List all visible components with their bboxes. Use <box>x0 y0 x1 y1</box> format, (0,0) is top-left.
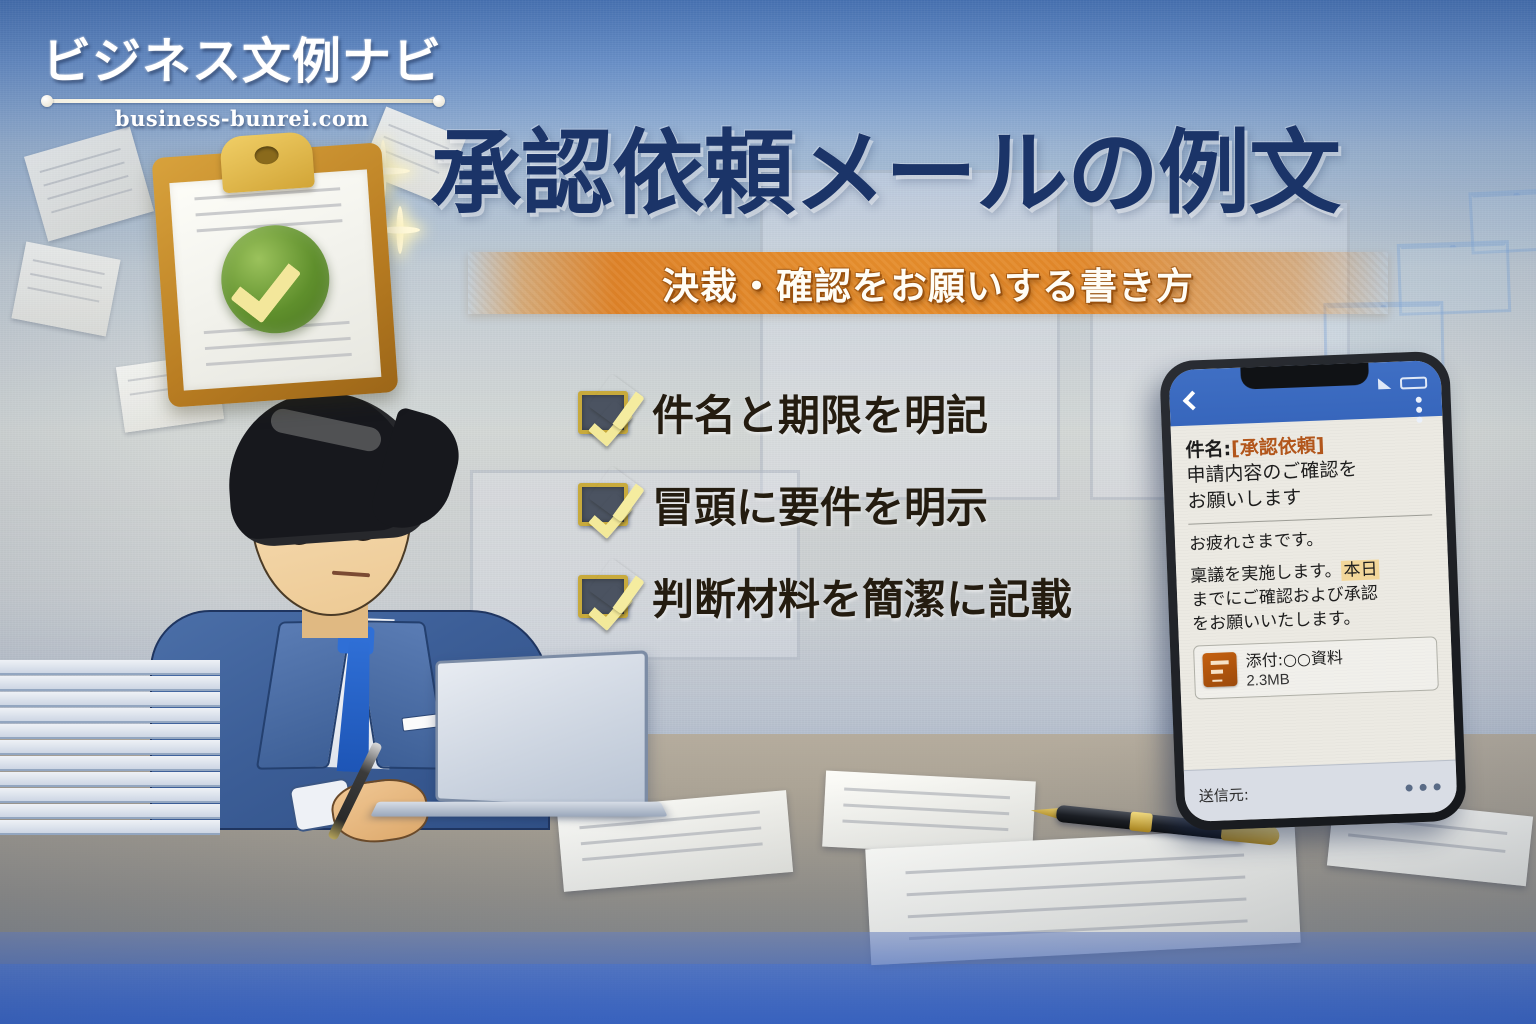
poster-canvas: 件名:[承認依頼] 申請内容のご確認を お願いします お疲れさまです。 稟議を実… <box>0 0 1536 1024</box>
kebab-menu-icon[interactable] <box>1416 397 1423 427</box>
more-dots-icon[interactable] <box>1405 783 1440 791</box>
pdf-file-icon <box>1202 652 1237 687</box>
phone-footer-bar: 送信元: <box>1184 760 1458 822</box>
sender-label: 送信元: <box>1198 784 1249 807</box>
checklist-item: 判断材料を簡潔に記載 <box>578 566 1072 627</box>
mail-subject-label: 件名: <box>1185 438 1231 462</box>
subtitle-banner: 決裁・確認をお願いする書き方 <box>468 252 1388 314</box>
checkbox-checked-icon <box>578 483 628 526</box>
checklist-item-label: 冒頭に要件を明示 <box>652 474 988 535</box>
clipboard-clamp <box>219 131 315 193</box>
clipboard-check-icon <box>152 142 399 407</box>
site-logo[interactable]: ビジネス文例ナビ business-bunrei.com <box>42 22 442 131</box>
logo-domain-text: business-bunrei.com <box>42 106 442 131</box>
checkbox-checked-icon <box>578 391 628 434</box>
logo-brand-text: ビジネス文例ナビ <box>42 22 442 93</box>
checklist-item: 冒頭に要件を明示 <box>578 474 1072 535</box>
attachment-size: 2.3MB <box>1246 669 1344 690</box>
smartphone-mockup: 件名:[承認依頼] 申請内容のご確認を お願いします お疲れさまです。 稟議を実… <box>1159 351 1467 832</box>
mail-body-text: 稟議を実施します。 <box>1190 561 1342 587</box>
pen-ring <box>1129 811 1153 832</box>
mail-body-highlight: 本日 <box>1341 559 1380 580</box>
attachment-name: 添付:○○資料 <box>1245 648 1343 672</box>
checklist-item-label: 判断材料を簡潔に記載 <box>652 566 1072 627</box>
signal-icon <box>1378 378 1391 389</box>
checkbox-checked-icon <box>578 575 628 618</box>
laptop-keyboard <box>370 802 668 817</box>
mail-subject-tag: [承認依頼] <box>1231 434 1325 460</box>
mail-body-line1: お疲れさまです。 <box>1189 523 1434 556</box>
phone-screen: 件名:[承認依頼] 申請内容のご確認を お願いします お疲れさまです。 稟議を実… <box>1168 360 1457 822</box>
checklist-item: 件名と期限を明記 <box>578 382 1072 443</box>
logo-divider <box>46 99 440 103</box>
laptop-illustration <box>435 650 648 812</box>
checklist-item-label: 件名と期限を明記 <box>652 382 988 443</box>
checklist: 件名と期限を明記 冒頭に要件を明示 判断材料を簡潔に記載 <box>578 382 1072 658</box>
attachment-meta: 添付:○○資料 2.3MB <box>1245 648 1344 690</box>
back-chevron-icon[interactable] <box>1183 391 1203 411</box>
page-title: 承認依頼メールの例文 <box>430 128 1400 220</box>
attachment-card[interactable]: 添付:○○資料 2.3MB <box>1193 636 1439 699</box>
mail-content: 件名:[承認依頼] 申請内容のご確認を お願いします お疲れさまです。 稟議を実… <box>1171 416 1456 770</box>
paper-stack-illustration <box>0 660 220 860</box>
subtitle-text: 決裁・確認をお願いする書き方 <box>662 256 1194 310</box>
battery-icon <box>1400 376 1427 389</box>
mail-divider <box>1188 514 1432 524</box>
desk-front-panel <box>0 932 1536 1024</box>
